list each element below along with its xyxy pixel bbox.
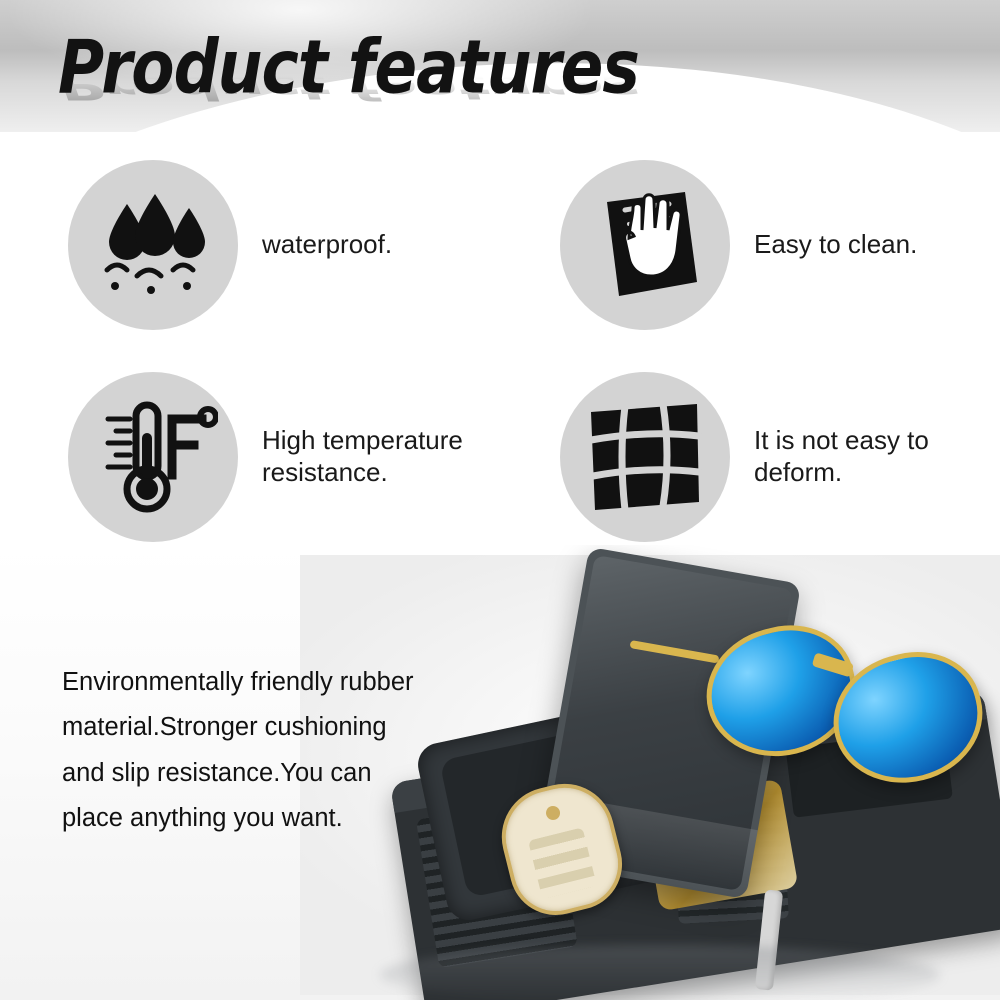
- description-text: Environmentally friendly rubber material…: [62, 660, 492, 842]
- sunglasses: [685, 580, 1000, 850]
- feature-item-waterproof: waterproof.: [68, 160, 392, 330]
- thermometer-fahrenheit-icon: [88, 397, 218, 517]
- description-line: and slip resistance.You can: [62, 751, 492, 796]
- description-line: Environmentally friendly rubber: [62, 660, 492, 705]
- key-fob-logo: [544, 805, 561, 822]
- product-feature-infographic: Product features Product features waterp…: [0, 0, 1000, 1000]
- feature-icon-circle: [560, 160, 730, 330]
- page-title: Product features: [58, 30, 639, 104]
- feature-icon-circle: [560, 372, 730, 542]
- feature-icon-circle: [68, 160, 238, 330]
- feature-icon-circle: [68, 372, 238, 542]
- description-line: material.Stronger cushioning: [62, 705, 492, 750]
- feature-item-not-easy-to-deform: It is not easy to deform.: [560, 372, 1000, 542]
- key-fob-buttons: [528, 827, 597, 899]
- cleaning-cloth-hand-icon: [585, 186, 705, 304]
- feature-label: waterproof.: [262, 229, 392, 261]
- grid-mesh-icon: [585, 398, 705, 516]
- description-line: place anything you want.: [62, 796, 492, 841]
- feature-label: Easy to clean.: [754, 229, 917, 261]
- feature-list: waterproof. Easy to clean.: [0, 150, 1000, 550]
- photo-reflection: [380, 945, 940, 1000]
- feature-label: It is not easy to deform.: [754, 425, 1000, 488]
- feature-label: High temperature resistance.: [262, 425, 512, 488]
- feature-item-easy-to-clean: Easy to clean.: [560, 160, 917, 330]
- water-drops-icon: [93, 190, 213, 300]
- feature-item-high-temperature: High temperature resistance.: [68, 372, 512, 542]
